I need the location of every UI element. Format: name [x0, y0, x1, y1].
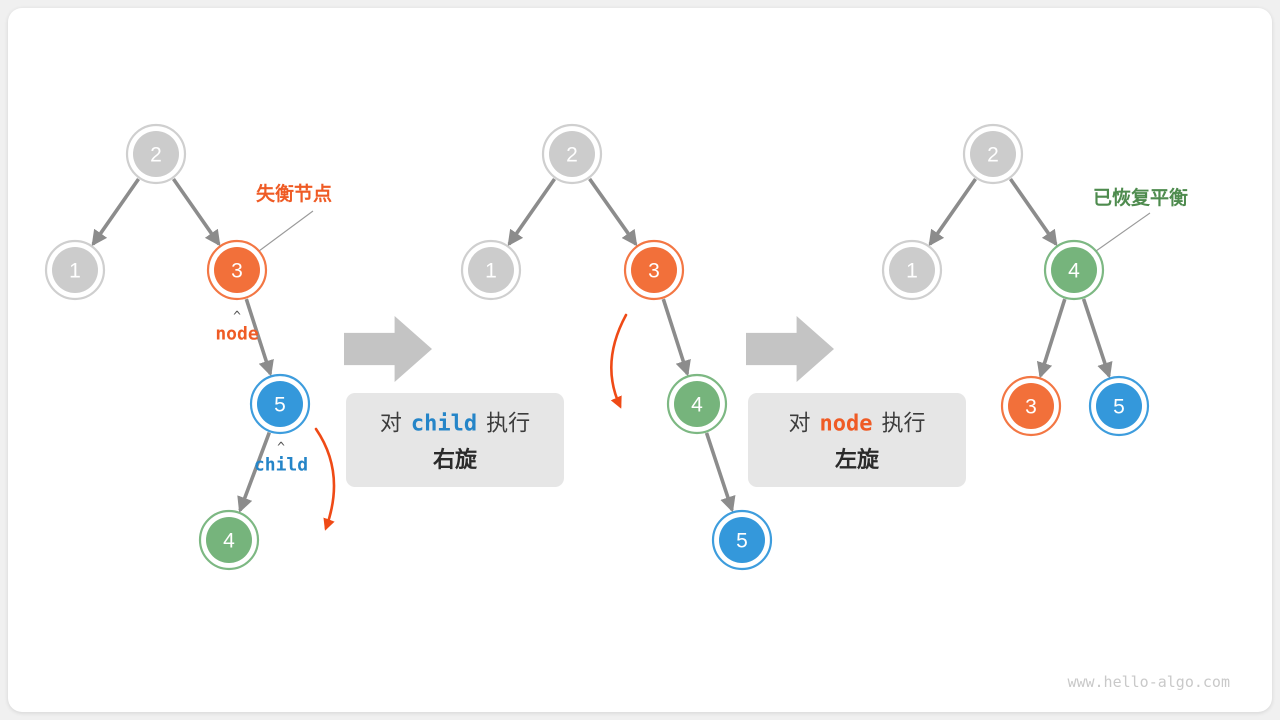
tree-node-5: 5: [713, 511, 771, 569]
tree-edge: [1010, 179, 1056, 244]
tree-node-4: 4: [1045, 241, 1103, 299]
node-value: 1: [69, 260, 81, 283]
node-value: 2: [566, 144, 578, 167]
tree-node-3: 3: [1002, 377, 1060, 435]
step-target-variable: node: [820, 412, 873, 437]
tree-edge: [93, 179, 139, 244]
step-prefix-label: 对: [788, 412, 810, 437]
variable-label: node: [215, 324, 259, 345]
tree-node-4: 4: [668, 375, 726, 433]
node-value: 5: [274, 394, 286, 417]
step-left-rotation-box: 对node执行左旋: [748, 393, 966, 487]
annotation-label: 已恢复平衡: [1093, 186, 1188, 209]
tree-node-3: 3: [625, 241, 683, 299]
node-value: 2: [150, 144, 162, 167]
tree-node-1: 1: [883, 241, 941, 299]
tree-node-5: 5: [251, 375, 309, 433]
node-value: 1: [485, 260, 497, 283]
tree-edge: [173, 179, 219, 244]
node-value: 4: [223, 530, 235, 553]
tree-node-1: 1: [462, 241, 520, 299]
leader-lines-layer: [259, 211, 1150, 251]
step-suffix-label: 执行: [881, 412, 925, 437]
leader-unbalanced: [259, 211, 313, 251]
tree-node-4: 4: [200, 511, 258, 569]
tree-edge: [930, 179, 976, 244]
node-value: 2: [987, 144, 999, 167]
node-value: 1: [906, 260, 918, 283]
step-target-variable: child: [411, 412, 477, 437]
node-value: 3: [1025, 396, 1037, 419]
step-right-rotation-box: 对child执行右旋: [346, 393, 564, 487]
step-label-boxes-layer: 对child执行右旋对node执行左旋: [346, 393, 966, 487]
node-value: 3: [648, 260, 660, 283]
step-suffix-label: 执行: [486, 412, 530, 437]
tree-edge: [1084, 299, 1110, 376]
tree-edge: [1040, 299, 1064, 376]
tree-node-2: 2: [543, 125, 601, 183]
node-value: 5: [736, 530, 748, 553]
node-value: 4: [691, 394, 703, 417]
step-block-arrow-icon: [344, 316, 432, 382]
tree-node-3: 3: [208, 241, 266, 299]
tree-node-5: 5: [1090, 377, 1148, 435]
figure-card: 对child执行右旋对node执行左旋 213542134521435 失衡节点…: [8, 8, 1272, 712]
caret-pointer-icon: ^: [233, 310, 241, 325]
leader-balanced: [1096, 213, 1150, 251]
rotation-arrow-left: [611, 315, 626, 406]
step-operation-label: 左旋: [835, 447, 880, 473]
step-block-arrow-icon: [746, 316, 834, 382]
tree-node-2: 2: [964, 125, 1022, 183]
caret-pointer-icon: ^: [277, 441, 285, 456]
tree-edge: [663, 299, 687, 374]
tree-node-2: 2: [127, 125, 185, 183]
tree-edge: [509, 179, 555, 244]
variable-label: child: [254, 455, 308, 476]
tree-edge: [707, 433, 733, 510]
tree-edge: [590, 179, 636, 244]
watermark: www.hello-algo.com: [1067, 673, 1230, 691]
diagram-canvas: 对child执行右旋对node执行左旋 213542134521435 失衡节点…: [8, 8, 1272, 712]
step-operation-label: 右旋: [433, 447, 478, 473]
rotation-arrow-right: [316, 429, 334, 528]
annotation-label: 失衡节点: [256, 182, 332, 205]
node-value: 3: [231, 260, 243, 283]
node-value: 4: [1068, 260, 1080, 283]
tree-node-1: 1: [46, 241, 104, 299]
node-value: 5: [1113, 396, 1125, 419]
step-prefix-label: 对: [380, 412, 402, 437]
block-arrows-layer: [344, 316, 834, 382]
